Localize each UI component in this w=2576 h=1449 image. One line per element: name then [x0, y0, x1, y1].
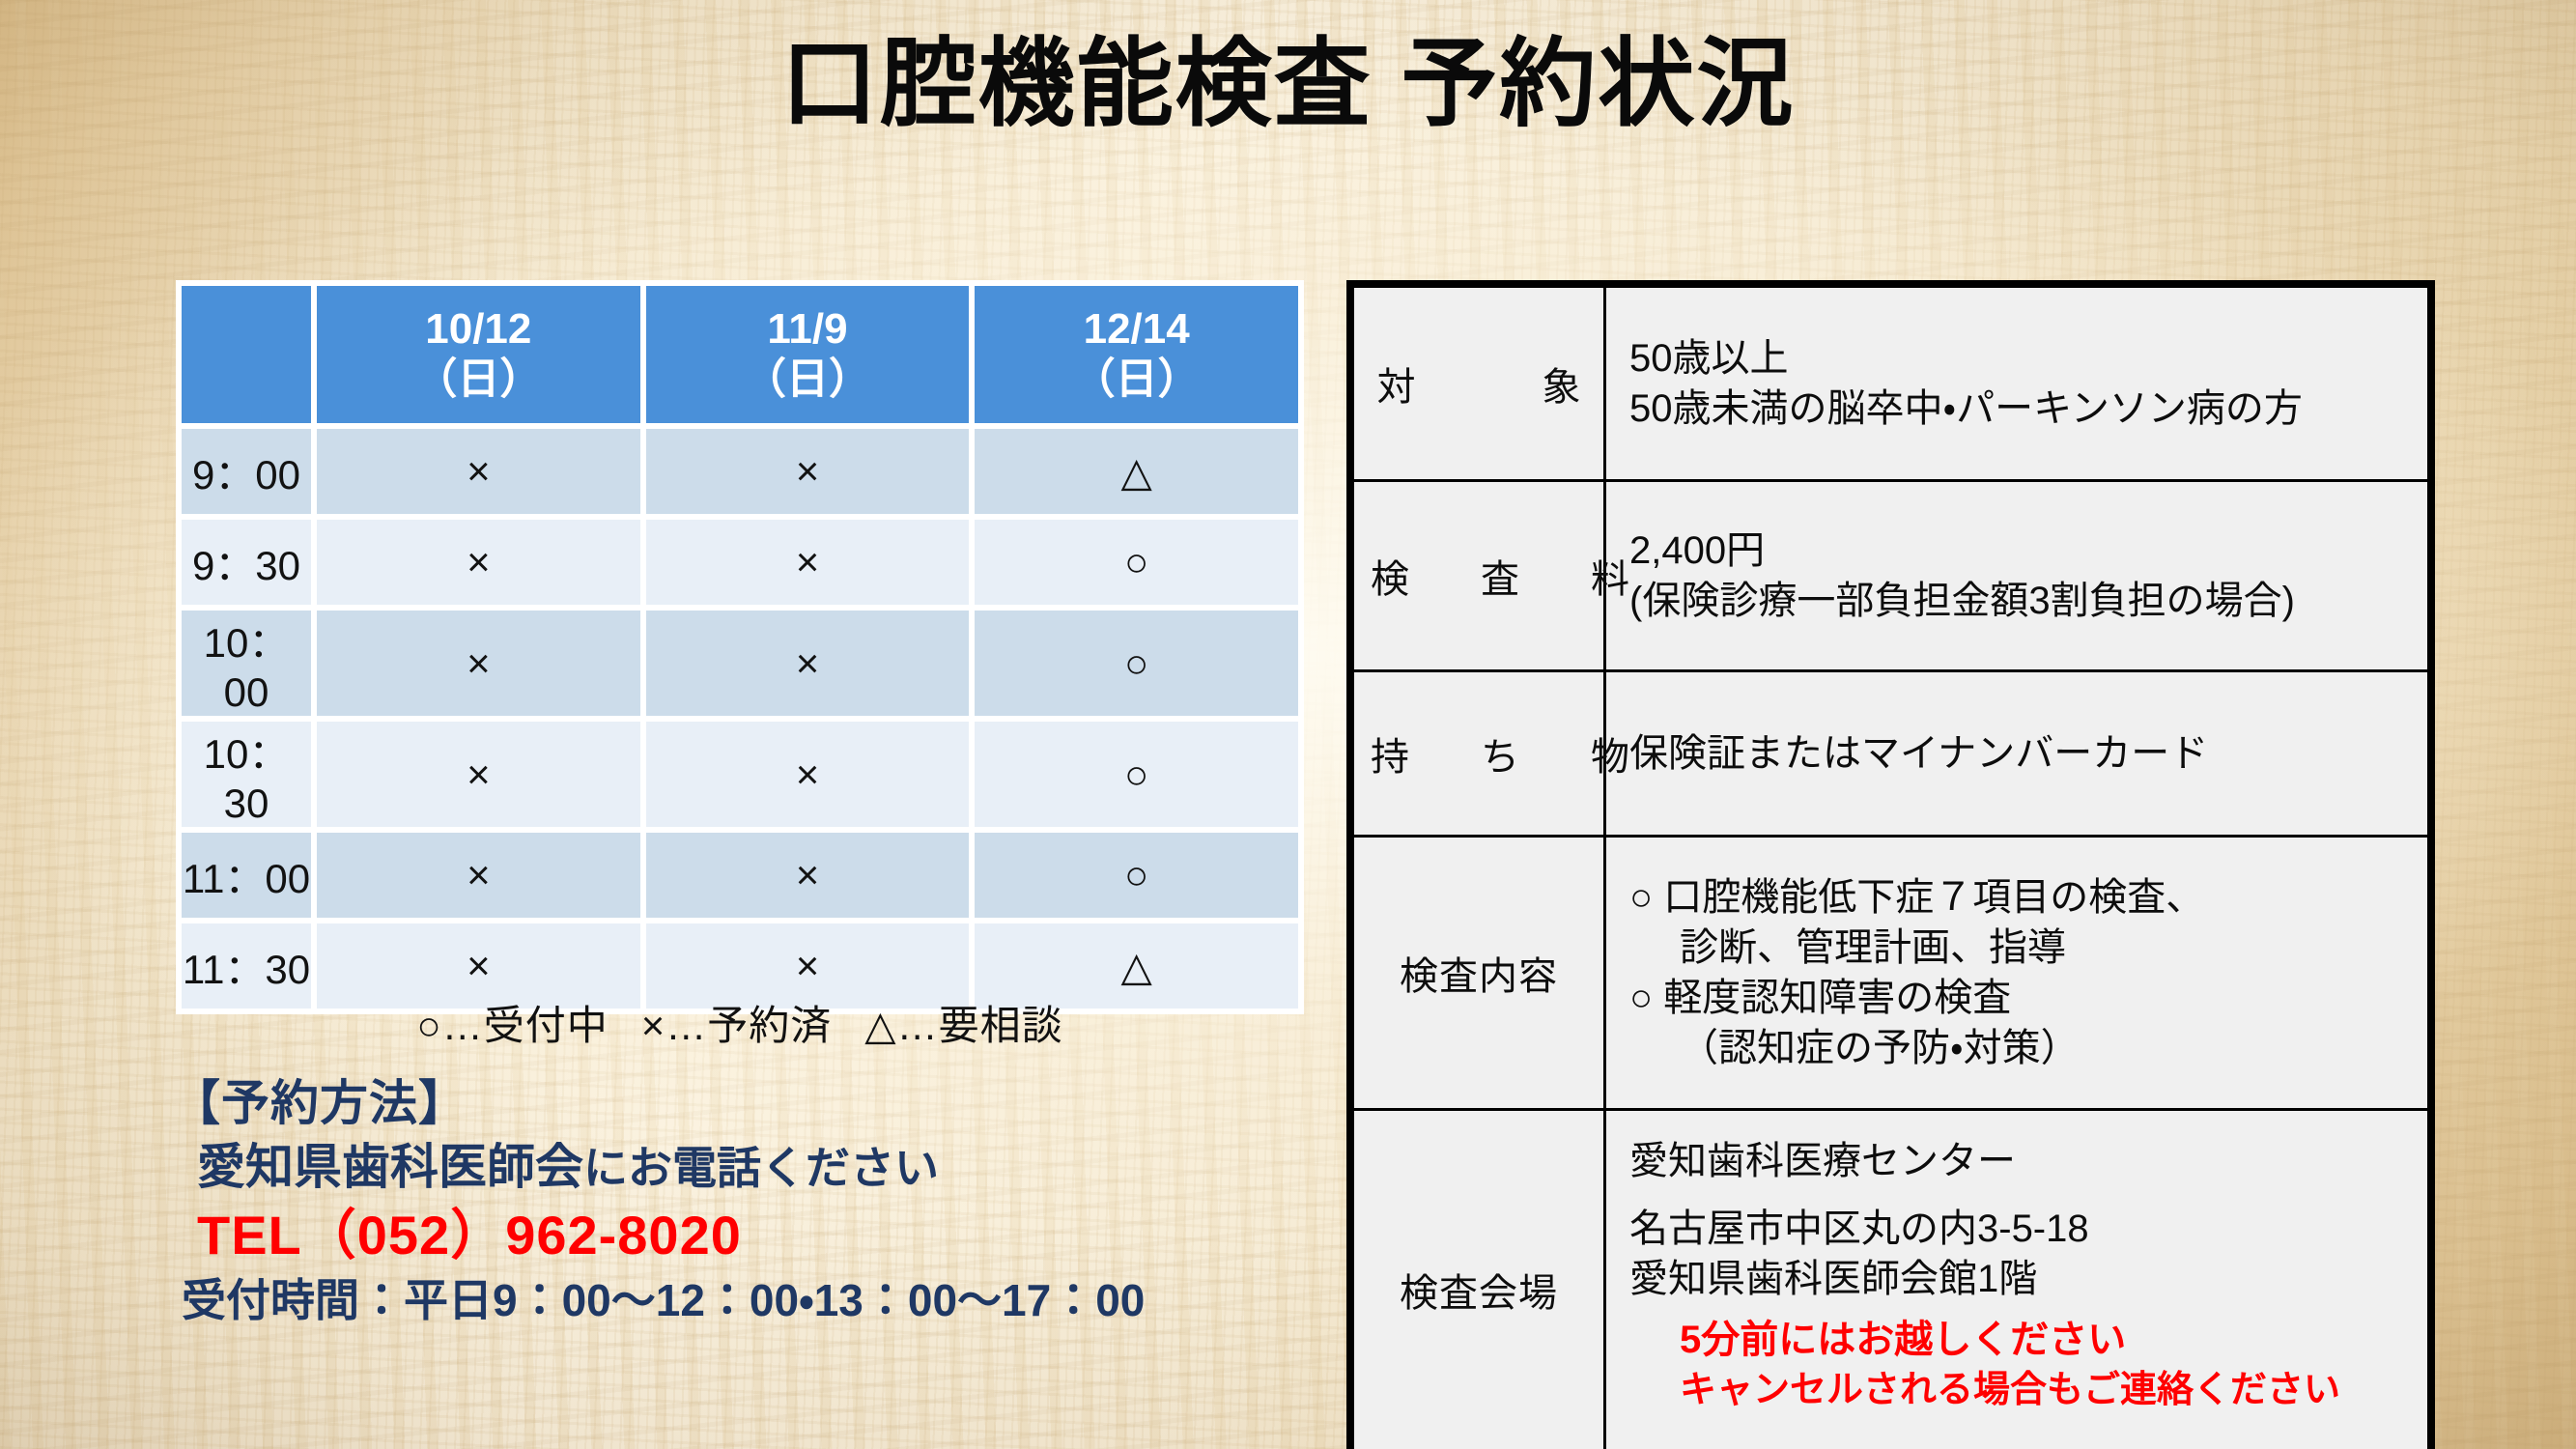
- slot-time-4: 11：00: [182, 833, 311, 918]
- schedule-col-header-0: 10/12 （日）: [317, 286, 640, 423]
- slot-status-2-2[interactable]: ○: [975, 611, 1298, 716]
- slot-time-3: 10：30: [182, 722, 311, 827]
- info-label-bring: 持 ち 物: [1353, 671, 1605, 837]
- slot-status-0-2[interactable]: △: [975, 429, 1298, 514]
- reservation-contact-suffix: にお電話ください: [583, 1143, 939, 1193]
- info-content-line-3: （認知症の予防・対策）: [1629, 1023, 2418, 1073]
- info-content-line-1: 診断、管理計画、指導: [1629, 923, 2418, 973]
- info-label-fee: 検 査 料: [1353, 481, 1605, 671]
- info-venue-name: 愛知歯科医療センター: [1629, 1136, 2418, 1186]
- info-bring-line-0: 保険証またはマイナンバーカード: [1629, 728, 2418, 779]
- legend-item-booked: ×…予約済: [641, 1003, 833, 1048]
- slot-time-1: 9：30: [182, 520, 311, 605]
- info-target-line-0: 50歳以上: [1629, 333, 2418, 384]
- slot-status-3-2[interactable]: ○: [975, 722, 1298, 827]
- slot-status-1-2[interactable]: ○: [975, 520, 1298, 605]
- reservation-organization: 愛知県歯科医師会: [197, 1140, 583, 1194]
- info-label-content: 検査内容: [1353, 837, 1605, 1110]
- reservation-hours: 受付時間：平日9：00〜12：00・13：00〜17：00: [172, 1271, 1145, 1331]
- info-label-target: 対 象: [1353, 287, 1605, 481]
- slot-status-3-0[interactable]: ×: [317, 722, 640, 827]
- legend-text-available: …受付中: [442, 1003, 609, 1048]
- table-row: 11：00 × × ○: [182, 833, 1298, 918]
- info-value-fee: 2,400円 (保険診療一部負担金額3割負担の場合): [1605, 481, 2429, 671]
- slot-status-1-0[interactable]: ×: [317, 520, 640, 605]
- table-row: 対 象 50歳以上 50歳未満の脳卒中・パーキンソン病の方: [1353, 287, 2429, 481]
- schedule-col-weekday-1: （日）: [646, 355, 970, 405]
- info-fee-line-1: (保険診療一部負担金額3割負担の場合): [1629, 576, 2418, 626]
- legend-symbol-cross: ×: [641, 1003, 666, 1048]
- schedule-col-date-1: 11/9: [646, 304, 970, 355]
- table-row: 10：00 × × ○: [182, 611, 1298, 716]
- info-content-line-0: ○ 口腔機能低下症７項目の検査、: [1629, 872, 2418, 923]
- info-table-body: 対 象 50歳以上 50歳未満の脳卒中・パーキンソン病の方 検 査 料 2,40…: [1353, 287, 2429, 1449]
- slot-status-4-0[interactable]: ×: [317, 833, 640, 918]
- schedule-legend: ○…受付中×…予約済△…要相談: [176, 993, 1304, 1052]
- info-venue-notice-cancel: キャンセルされる場合もご連絡ください: [1629, 1366, 2418, 1415]
- table-row: 9：30 × × ○: [182, 520, 1298, 605]
- table-row: 検査内容 ○ 口腔機能低下症７項目の検査、 診断、管理計画、指導 ○ 軽度認知障…: [1353, 837, 2429, 1110]
- legend-item-available: ○…受付中: [416, 1003, 608, 1048]
- schedule-body: 9：00 × × △ 9：30 × × ○ 10：00 × × ○: [182, 429, 1298, 1009]
- schedule-col-header-1: 11/9 （日）: [646, 286, 970, 423]
- legend-symbol-triangle: △: [864, 1003, 896, 1048]
- table-row: 9：00 × × △: [182, 429, 1298, 514]
- schedule-col-weekday-0: （日）: [317, 355, 640, 405]
- slot-time-0: 9：00: [182, 429, 311, 514]
- info-venue-spacer: [1629, 1186, 2418, 1204]
- schedule-header: 10/12 （日） 11/9 （日） 12/14 （日）: [182, 286, 1298, 423]
- info-label-venue: 検査会場: [1353, 1110, 1605, 1449]
- schedule-table: 10/12 （日） 11/9 （日） 12/14 （日） 9：00: [176, 280, 1304, 1014]
- table-row: 検 査 料 2,400円 (保険診療一部負担金額3割負担の場合): [1353, 481, 2429, 671]
- slot-status-4-1[interactable]: ×: [646, 833, 970, 918]
- schedule-header-row: 10/12 （日） 11/9 （日） 12/14 （日）: [182, 286, 1298, 423]
- slot-status-0-1[interactable]: ×: [646, 429, 970, 514]
- legend-item-consult: △…要相談: [864, 1003, 1062, 1048]
- info-venue-address-2: 愛知県歯科医師会館1階: [1629, 1254, 2418, 1304]
- schedule-corner-cell: [182, 286, 311, 423]
- table-row: 持 ち 物 保険証またはマイナンバーカード: [1353, 671, 2429, 837]
- schedule-col-weekday-2: （日）: [975, 355, 1298, 405]
- info-value-content: ○ 口腔機能低下症７項目の検査、 診断、管理計画、指導 ○ 軽度認知障害の検査 …: [1605, 837, 2429, 1110]
- info-value-bring: 保険証またはマイナンバーカード: [1605, 671, 2429, 837]
- schedule-col-date-0: 10/12: [317, 304, 640, 355]
- legend-text-booked: …予約済: [665, 1003, 832, 1048]
- slot-status-4-2[interactable]: ○: [975, 833, 1298, 918]
- slot-status-2-0[interactable]: ×: [317, 611, 640, 716]
- info-table-wrapper: 対 象 50歳以上 50歳未満の脳卒中・パーキンソン病の方 検 査 料 2,40…: [1346, 280, 2435, 1449]
- info-value-venue: 愛知歯科医療センター 名古屋市中区丸の内3-5-18 愛知県歯科医師会館1階 5…: [1605, 1110, 2429, 1449]
- slot-status-0-0[interactable]: ×: [317, 429, 640, 514]
- table-row: 検査会場 愛知歯科医療センター 名古屋市中区丸の内3-5-18 愛知県歯科医師会…: [1353, 1110, 2429, 1449]
- legend-symbol-circle: ○: [416, 1003, 441, 1048]
- poster-root: 口腔機能検査 予約状況 10/12 （日） 11/9 （日）: [0, 0, 2576, 1449]
- page-title: 口腔機能検査 予約状況: [0, 25, 2576, 143]
- legend-text-consult: …要相談: [897, 1003, 1063, 1048]
- table-row: 10：30 × × ○: [182, 722, 1298, 827]
- schedule-panel: 10/12 （日） 11/9 （日） 12/14 （日） 9：00: [176, 280, 1304, 1014]
- info-content-line-2: ○ 軽度認知障害の検査: [1629, 973, 2418, 1023]
- schedule-col-header-2: 12/14 （日）: [975, 286, 1298, 423]
- reservation-block: 【予約方法】 愛知県歯科医師会にお電話ください TEL（052）962-8020…: [172, 1072, 1145, 1331]
- reservation-telephone[interactable]: TEL（052）962-8020: [172, 1200, 1145, 1271]
- reservation-contact-line: 愛知県歯科医師会にお電話ください: [172, 1135, 1145, 1200]
- schedule-col-date-2: 12/14: [975, 304, 1298, 355]
- info-fee-line-0: 2,400円: [1629, 526, 2418, 576]
- info-table: 対 象 50歳以上 50歳未満の脳卒中・パーキンソン病の方 検 査 料 2,40…: [1351, 285, 2430, 1449]
- info-venue-notice-arrive-early: 5分前にはお越しください: [1629, 1304, 2418, 1366]
- reservation-heading: 【予約方法】: [172, 1072, 1145, 1135]
- info-target-line-1: 50歳未満の脳卒中・パーキンソン病の方: [1629, 384, 2418, 434]
- info-value-target: 50歳以上 50歳未満の脳卒中・パーキンソン病の方: [1605, 287, 2429, 481]
- slot-status-1-1[interactable]: ×: [646, 520, 970, 605]
- slot-time-2: 10：00: [182, 611, 311, 716]
- slot-status-2-1[interactable]: ×: [646, 611, 970, 716]
- info-venue-address-1: 名古屋市中区丸の内3-5-18: [1629, 1204, 2418, 1254]
- slot-status-3-1[interactable]: ×: [646, 722, 970, 827]
